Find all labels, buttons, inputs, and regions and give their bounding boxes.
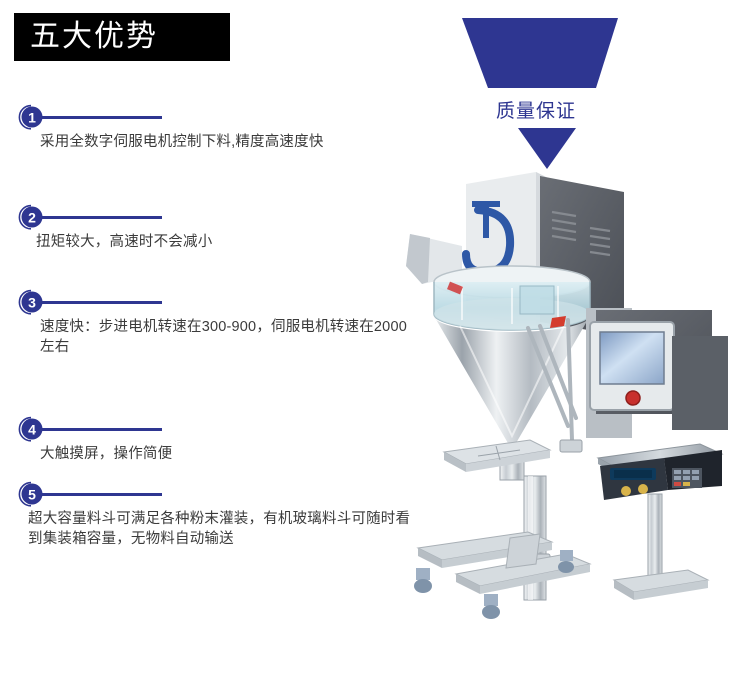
advantage-text-3: 速度快：步进电机转速在300-900，伺服电机转速在2000左右 <box>18 317 420 357</box>
caster-wheel <box>414 568 432 593</box>
advantage-rule-3 <box>42 301 162 304</box>
funnel-trapezoid-icon <box>462 18 618 88</box>
svg-text:5: 5 <box>28 487 36 503</box>
advantage-item-3: 3 速度快：步进电机转速在300-900，伺服电机转速在2000左右 <box>18 289 428 357</box>
advantage-text-2: 扭矩较大，高速时不会减小 <box>18 232 428 252</box>
advantage-header-2: 2 <box>18 204 428 232</box>
advantage-rule-5 <box>42 493 162 496</box>
quality-assurance-label: 质量保证 <box>446 96 626 123</box>
number-badge-1-icon: 1 <box>18 104 44 130</box>
advantage-header-3: 3 <box>18 289 428 317</box>
advantage-header-5: 5 <box>18 481 428 509</box>
svg-text:1: 1 <box>28 110 36 126</box>
number-badge-3-icon: 3 <box>18 289 44 315</box>
svg-text:2: 2 <box>28 210 36 226</box>
touchscreen-display[interactable] <box>600 332 664 384</box>
caster-wheel <box>482 594 500 619</box>
advantage-rule-1 <box>42 116 162 119</box>
scale-button[interactable] <box>621 486 631 496</box>
number-badge-5-icon: 5 <box>18 481 44 507</box>
advantage-item-1: 1 采用全数字伺服电机控制下料,精度高速度快 <box>18 104 428 152</box>
svg-text:3: 3 <box>28 295 36 311</box>
advantage-text-1: 采用全数字伺服电机控制下料,精度高速度快 <box>18 132 428 152</box>
advantage-rule-2 <box>42 216 162 219</box>
advantage-text-5: 超大容量料斗可满足各种粉末灌装，有机玻璃料斗可随时看到集装箱容量，无物料自动输送 <box>18 509 418 549</box>
auger-clamp <box>560 440 582 452</box>
advantage-item-5: 5 超大容量料斗可满足各种粉末灌装，有机玻璃料斗可随时看到集装箱容量，无物料自动… <box>18 481 428 549</box>
filling-platform <box>444 440 550 472</box>
number-badge-2-icon: 2 <box>18 204 44 230</box>
advantages-infographic-page: 五大优势 1 采用全数字伺服电机控制下料,精度高速度快 <box>0 0 750 677</box>
emergency-stop-button[interactable] <box>626 391 640 405</box>
advantage-header-4: 4 <box>18 416 428 444</box>
number-badge-4-icon: 4 <box>18 416 44 442</box>
advantage-item-2: 2 扭矩较大，高速时不会减小 <box>18 204 428 252</box>
svg-text:4: 4 <box>28 422 36 438</box>
advantage-header-1: 1 <box>18 104 428 132</box>
scale-keypad[interactable] <box>672 468 702 488</box>
caster-base <box>414 532 590 619</box>
advantage-text-4: 大触摸屏，操作简便 <box>18 444 428 464</box>
scale-button[interactable] <box>638 484 648 494</box>
advantage-rule-4 <box>42 428 162 431</box>
advantage-item-4: 4 大触摸屏，操作简便 <box>18 416 428 464</box>
weighing-scale <box>598 444 722 600</box>
advantages-list: 1 采用全数字伺服电机控制下料,精度高速度快 2 扭矩较大，高速时不会减小 <box>0 0 440 677</box>
powder-filling-machine-image <box>400 150 750 620</box>
touchscreen-control-panel <box>586 308 728 438</box>
